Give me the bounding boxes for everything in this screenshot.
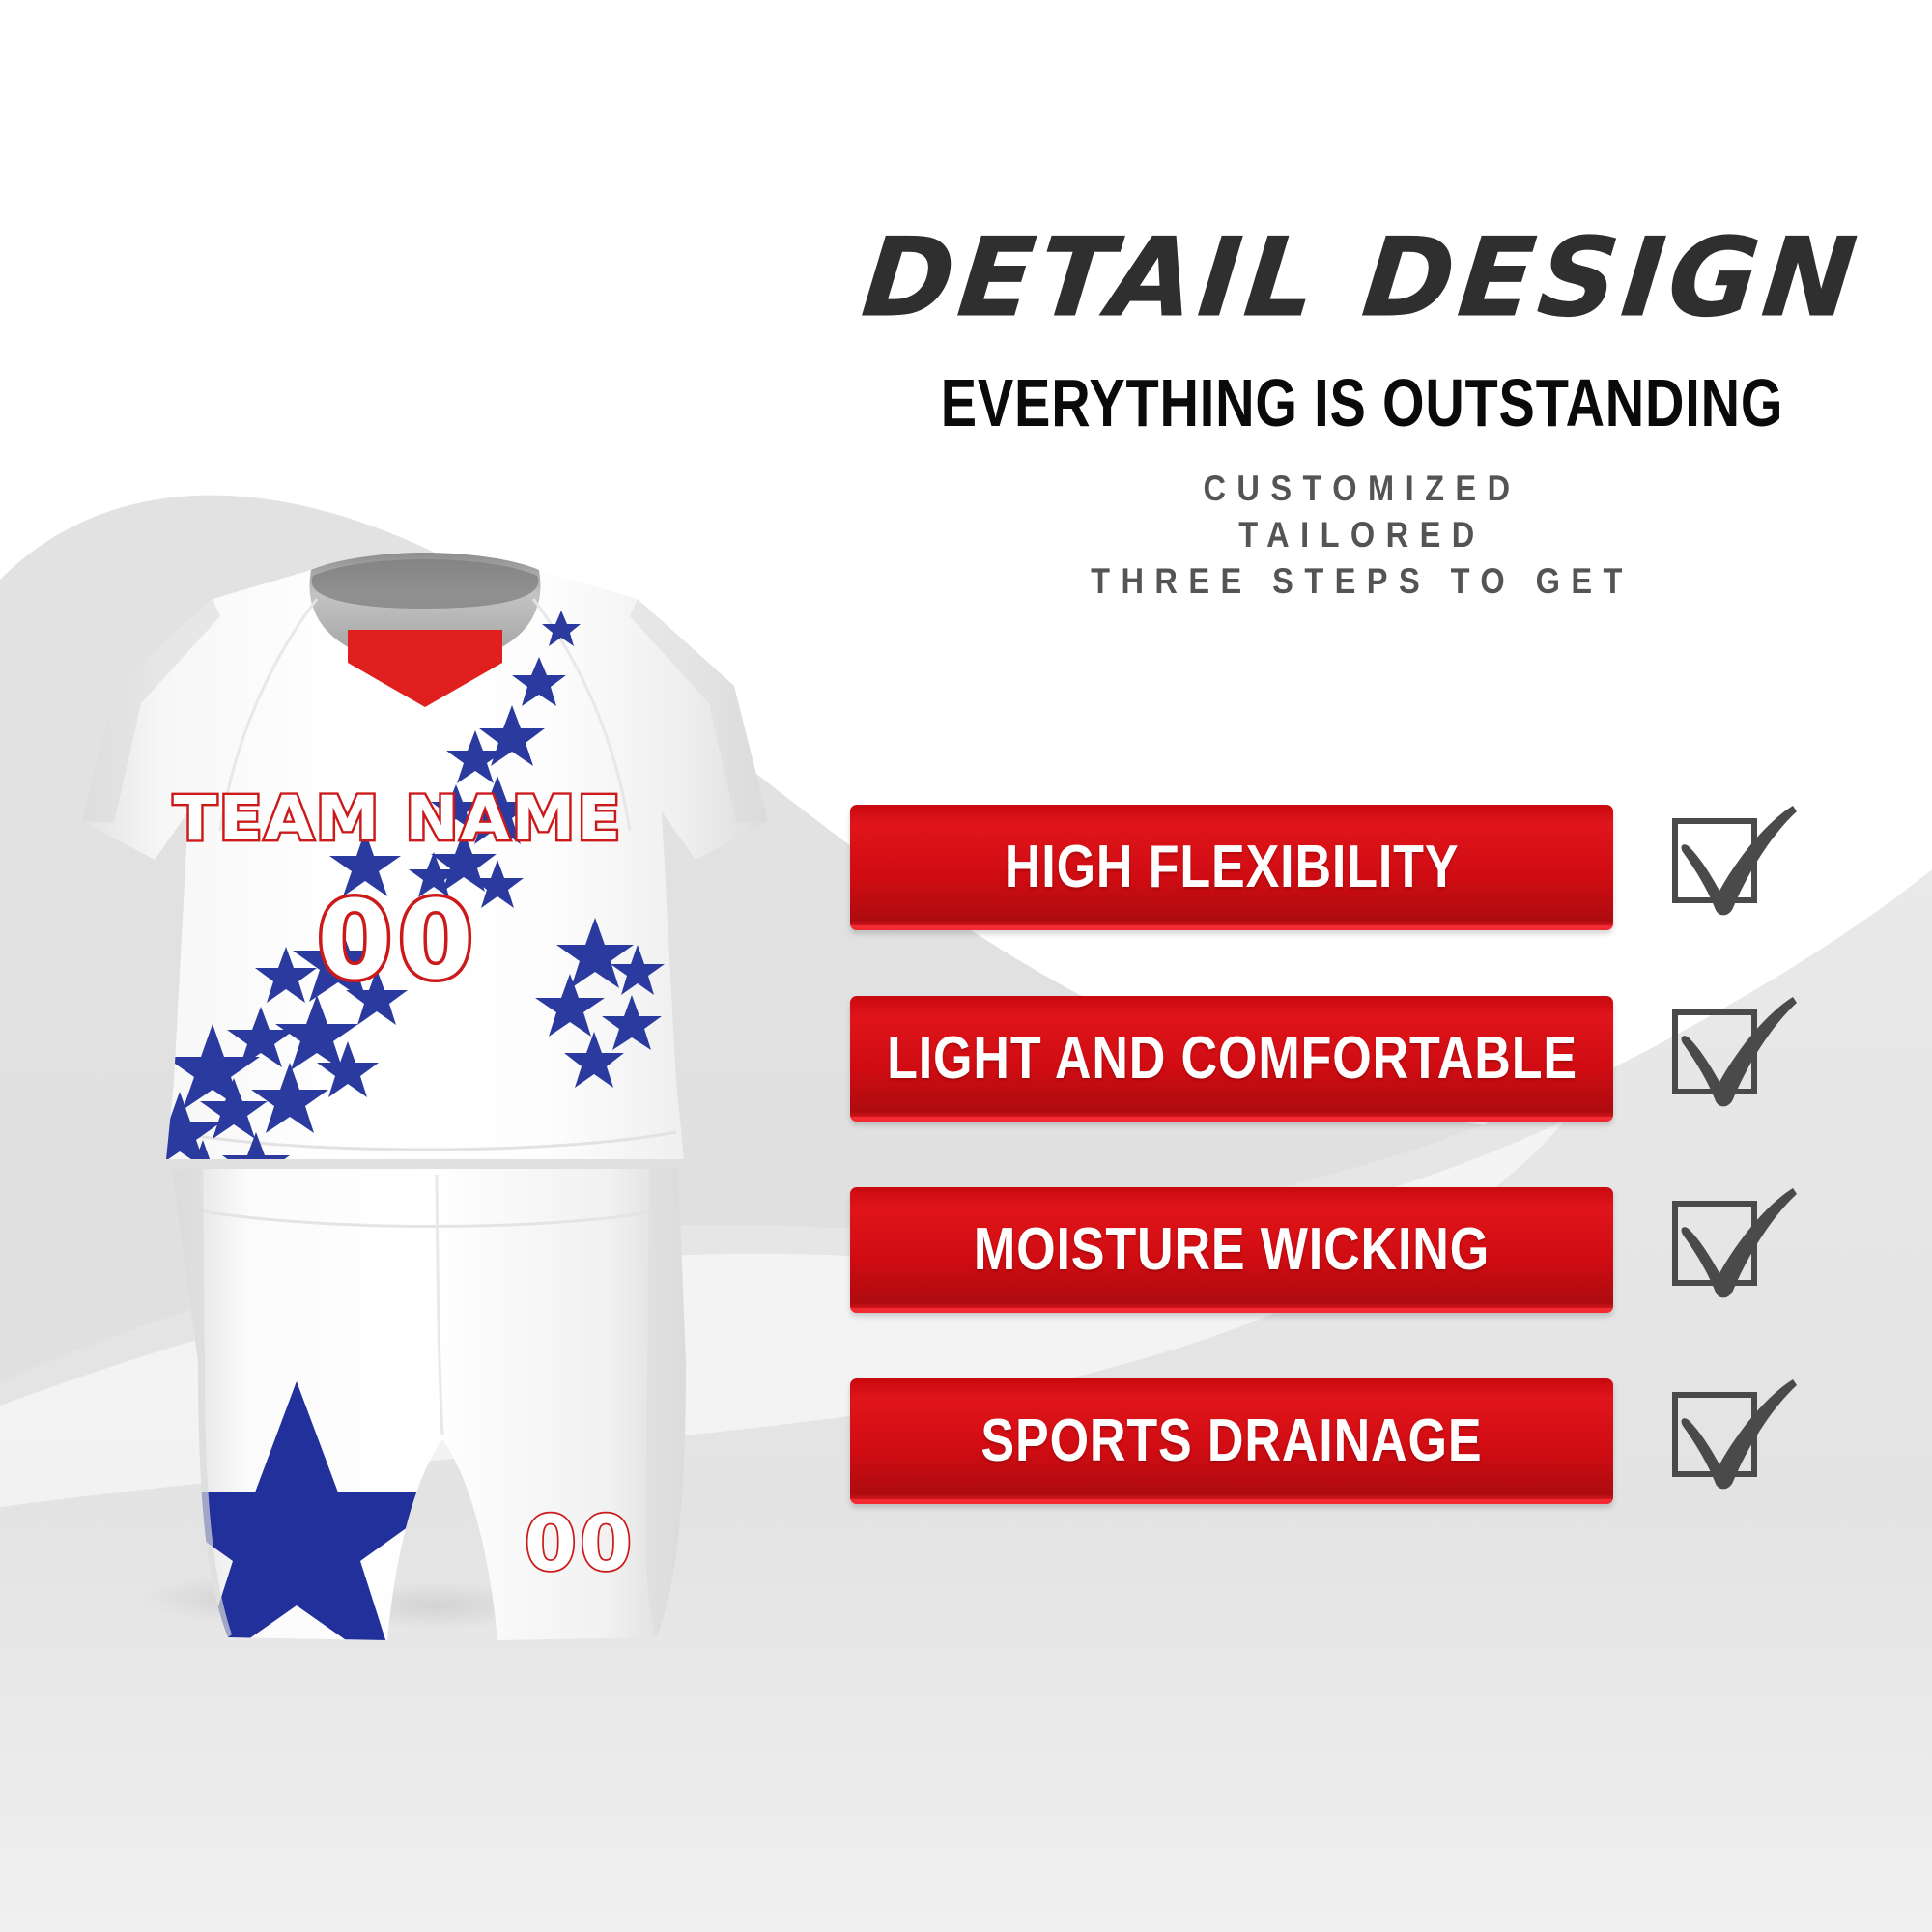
tagline-tailored: TAILORED — [895, 512, 1830, 558]
feature-banner-moisture-wicking[interactable]: MOISTURE WICKING — [850, 1187, 1613, 1313]
header-copy-block: DETAIL DESIGN EVERYTHING IS OUTSTANDING … — [831, 222, 1893, 605]
feature-label-high-flexibility: HIGH FLEXIBILITY — [1005, 838, 1460, 897]
shorts-shadow-right — [646, 1169, 686, 1637]
feature-list: HIGH FLEXIBILITY LIGHT AND COMFORTABLE M… — [850, 792, 1874, 1557]
checkbox-checked-icon-sports-drainage[interactable] — [1660, 1374, 1804, 1509]
checkbox-checked-icon-moisture-wicking[interactable] — [1660, 1182, 1804, 1318]
jersey-number: 00 — [317, 878, 479, 1004]
jersey-collar-band — [312, 559, 539, 609]
checkbox-checked-icon-high-flexibility[interactable] — [1660, 800, 1804, 935]
feature-banner-sports-drainage[interactable]: SPORTS DRAINAGE — [850, 1378, 1613, 1504]
jersey-team-name: TEAM NAME — [174, 783, 623, 854]
shorts: 00 — [137, 1169, 686, 1676]
feature-label-sports-drainage: SPORTS DRAINAGE — [981, 1411, 1483, 1471]
tagline-three-steps: THREE STEPS TO GET — [895, 558, 1830, 605]
jersey: TEAM NAME 00 — [82, 553, 768, 1218]
page-subtitle: EVERYTHING IS OUTSTANDING — [937, 369, 1787, 437]
feature-row-light-and-comfortable: LIGHT AND COMFORTABLE — [850, 983, 1874, 1134]
page-title: DETAIL DESIGN — [825, 222, 1899, 336]
checkbox-checked-icon-light-and-comfortable[interactable] — [1660, 991, 1804, 1126]
feature-label-moisture-wicking: MOISTURE WICKING — [974, 1220, 1490, 1280]
feature-banner-light-and-comfortable[interactable]: LIGHT AND COMFORTABLE — [850, 996, 1613, 1122]
tagline-customized: CUSTOMIZED — [895, 466, 1830, 512]
tagline-list: CUSTOMIZED TAILORED THREE STEPS TO GET — [831, 466, 1893, 605]
feature-label-light-and-comfortable: LIGHT AND COMFORTABLE — [887, 1029, 1577, 1089]
product-image-uniform-kit: TEAM NAME 00 00 — [58, 541, 792, 1797]
shorts-number: 00 — [525, 1501, 636, 1588]
feature-row-sports-drainage: SPORTS DRAINAGE — [850, 1366, 1874, 1517]
feature-row-high-flexibility: HIGH FLEXIBILITY — [850, 792, 1874, 943]
feature-row-moisture-wicking: MOISTURE WICKING — [850, 1175, 1874, 1325]
feature-banner-high-flexibility[interactable]: HIGH FLEXIBILITY — [850, 805, 1613, 930]
